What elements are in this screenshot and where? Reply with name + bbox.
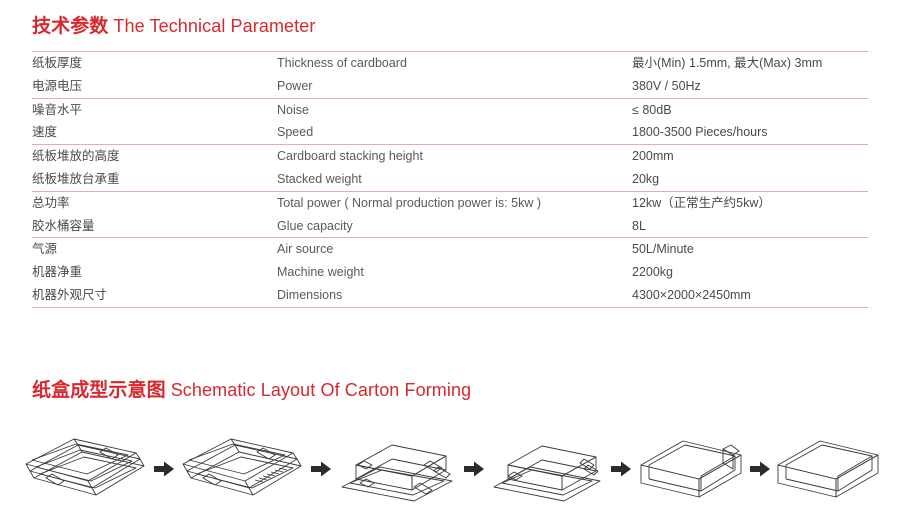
param-name-cn: 气源 [32,238,277,261]
param-name-en: Machine weight [277,261,632,284]
table-row: 机器外观尺寸 Dimensions 4300×2000×2450mm [32,284,868,307]
table-row: 总功率 Total power ( Normal production powe… [32,192,868,215]
arrow-right-icon [749,460,771,478]
param-name-en: Total power ( Normal production power is… [277,192,632,215]
side-walls-folded-icon [488,431,608,507]
param-name-en: Thickness of cardboard [277,52,632,75]
param-value: ≤ 80dB [632,99,868,122]
table-group: 纸板堆放的高度 Cardboard stacking height 200mm … [32,144,868,191]
param-value: 2200kg [632,261,868,284]
table-group: 总功率 Total power ( Normal production powe… [32,191,868,238]
param-value: 1800-3500 Pieces/hours [632,121,868,144]
tray-corners-forming-icon [635,431,747,507]
param-name-en: Dimensions [277,284,632,307]
param-value: 8L [632,215,868,238]
param-name-en: Speed [277,121,632,144]
arrow-right-icon [310,460,332,478]
table-row: 噪音水平 Noise ≤ 80dB [32,99,868,122]
arrow-right-icon [463,460,485,478]
table-row: 速度 Speed 1800-3500 Pieces/hours [32,121,868,144]
table-group: 气源 Air source 50L/Minute 机器净重 Machine we… [32,237,868,307]
param-value: 12kw（正常生产约5kw） [632,192,868,215]
technical-parameter-table: 纸板厚度 Thickness of cardboard 最小(Min) 1.5m… [32,51,868,308]
param-name-cn: 速度 [32,121,277,144]
param-value: 200mm [632,145,868,168]
table-row: 电源电压 Power 380V / 50Hz [32,75,868,98]
param-name-cn: 机器外观尺寸 [32,284,277,307]
carton-forming-diagram [20,428,882,510]
finished-carton-tray-icon [774,431,882,507]
param-name-en: Power [277,75,632,98]
param-name-cn: 电源电压 [32,75,277,98]
param-value: 最小(Min) 1.5mm, 最大(Max) 3mm [632,52,868,75]
param-value: 50L/Minute [632,238,868,261]
param-name-en: Cardboard stacking height [277,145,632,168]
param-name-cn: 纸板堆放台承重 [32,168,277,191]
page-title-cn: 技术参数 [32,16,108,37]
table-group: 纸板厚度 Thickness of cardboard 最小(Min) 1.5m… [32,51,868,98]
arrow-right-icon [610,460,632,478]
table-row: 气源 Air source 50L/Minute [32,238,868,261]
table-row: 胶水桶容量 Glue capacity 8L [32,215,868,238]
section-title-schematic-layout: 纸盒成型示意图Schematic Layout Of Carton Formin… [32,375,471,402]
param-name-cn: 总功率 [32,192,277,215]
page-title-en: The Technical Parameter [113,16,315,36]
table-row: 纸板堆放台承重 Stacked weight 20kg [32,168,868,191]
table-group: 噪音水平 Noise ≤ 80dB 速度 Speed 1800-3500 Pie… [32,98,868,145]
param-name-en: Stacked weight [277,168,632,191]
side-walls-rising-icon [334,431,460,507]
table-row: 纸板堆放的高度 Cardboard stacking height 200mm [32,145,868,168]
param-name-cn: 胶水桶容量 [32,215,277,238]
param-name-cn: 纸板堆放的高度 [32,145,277,168]
table-row: 机器净重 Machine weight 2200kg [32,261,868,284]
arrow-right-icon [153,460,175,478]
param-value: 4300×2000×2450mm [632,284,868,307]
param-name-cn: 噪音水平 [32,99,277,122]
param-name-en: Air source [277,238,632,261]
param-value: 20kg [632,168,868,191]
section-title-cn: 纸盒成型示意图 [32,380,166,401]
flat-blank-glued-icon [177,431,307,507]
section-title-en: Schematic Layout Of Carton Forming [171,380,472,400]
flat-blank-scored-icon [20,431,150,507]
param-name-en: Noise [277,99,632,122]
param-name-cn: 纸板厚度 [32,52,277,75]
param-name-en: Glue capacity [277,215,632,238]
param-value: 380V / 50Hz [632,75,868,98]
page-title-technical-parameter: 技术参数The Technical Parameter [32,11,315,38]
param-name-cn: 机器净重 [32,261,277,284]
table-row: 纸板厚度 Thickness of cardboard 最小(Min) 1.5m… [32,52,868,75]
